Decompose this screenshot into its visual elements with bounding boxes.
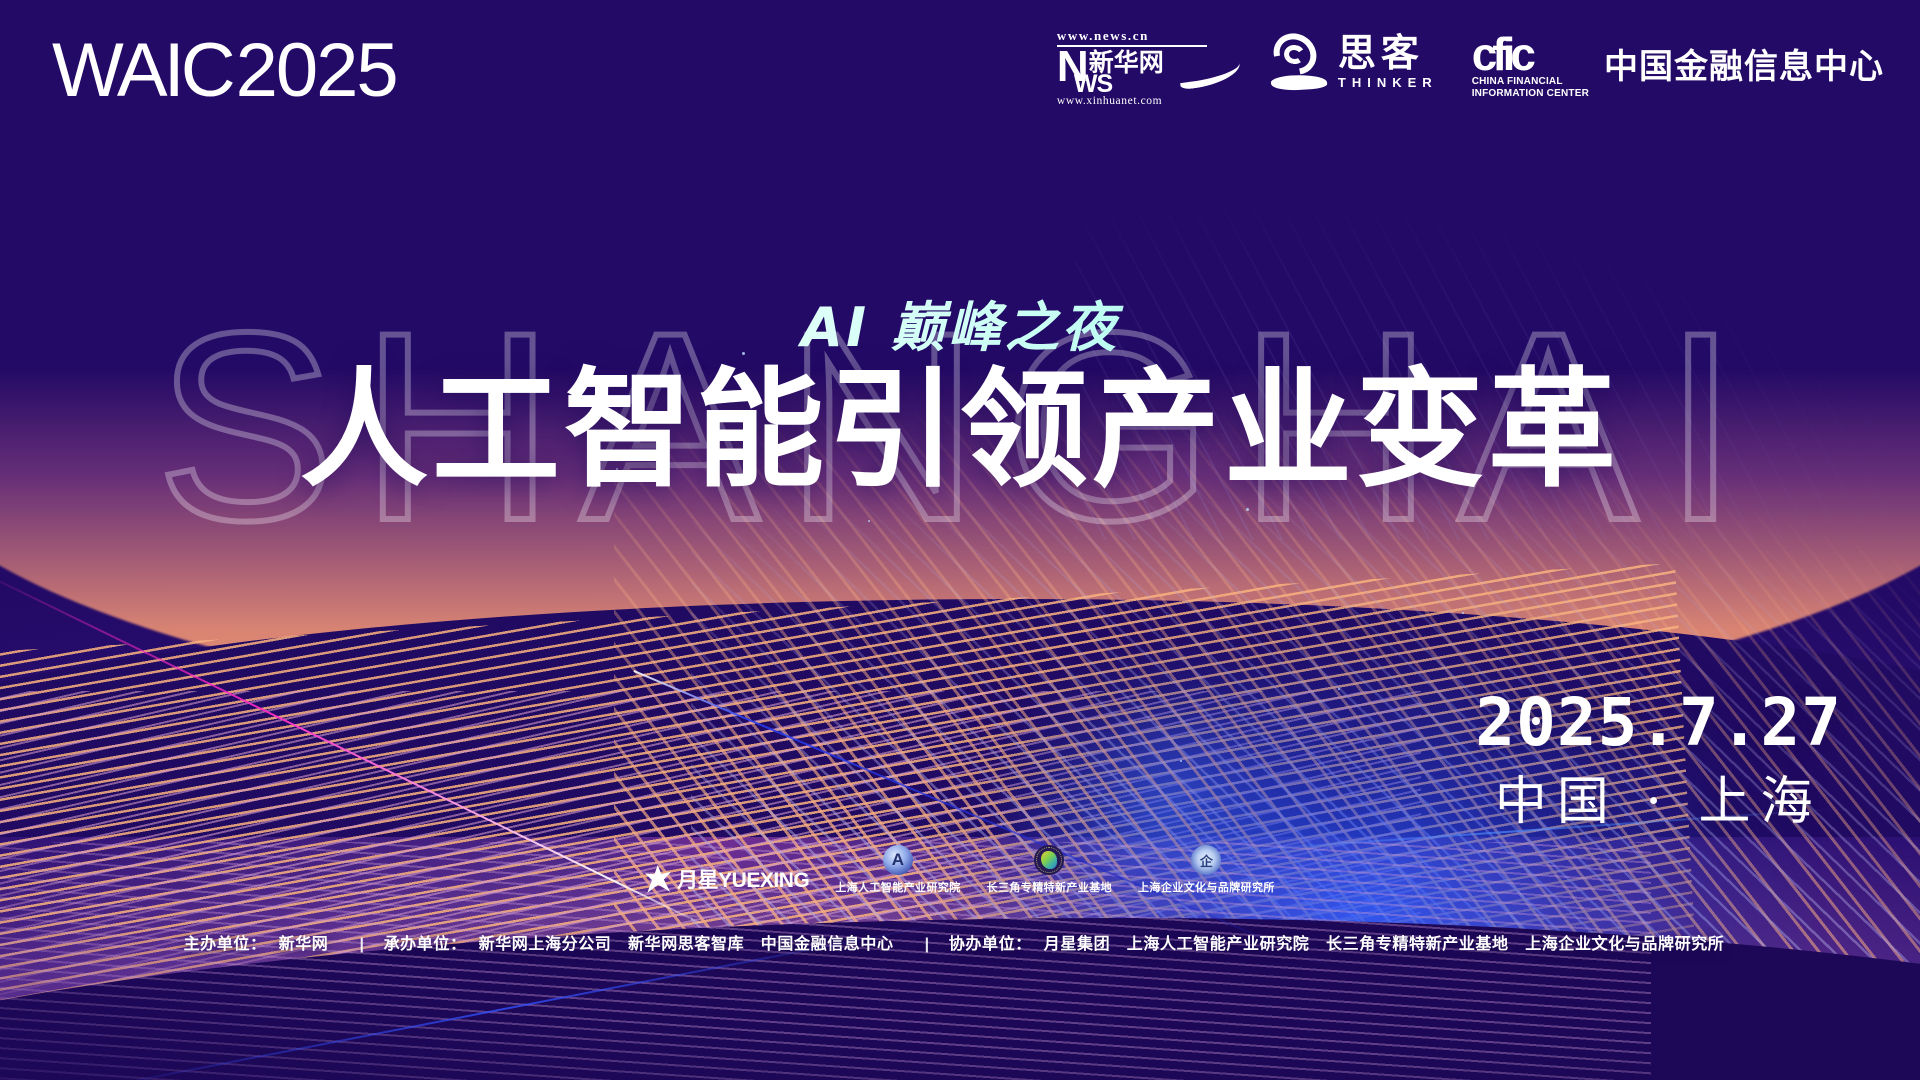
waic-banner-poster: SHANGHAI WAIC2025 www.news.cn N 新华网 WS w… (0, 0, 1920, 1080)
waic-logo-main: WAIC (52, 28, 232, 113)
partner-saii: 上海人工智能产业研究院 (835, 845, 960, 895)
organizer-credits: 主办单位：新华网 | 承办单位：新华网上海分公司 新华网思客智库 中国金融信息中… (0, 930, 1920, 954)
sparkle-dot (1462, 612, 1464, 614)
thinker-name-cn: 思客 (1338, 34, 1438, 72)
event-city: 中国 · 上海 (1475, 776, 1842, 828)
coorganizer-label: 协办单位： (949, 936, 1032, 953)
organizer-label: 承办单位： (384, 936, 467, 953)
thinker-name-en: THINKER (1338, 75, 1438, 90)
yuexing-lockup: 月星YUEXING (645, 864, 809, 894)
sparkle-dot (1180, 760, 1182, 762)
star-logo-icon (645, 865, 671, 893)
host-value: 新华网 (279, 936, 329, 953)
xinhua-url-bottom: www.xinhuanet.com (1057, 95, 1237, 107)
partner-yrd-base: 长三角专精特新产业基地 (987, 845, 1112, 895)
partner-logo-strip: 月星YUEXING 上海人工智能产业研究院 长三角专精特新产业基地 上海企业文化… (0, 845, 1920, 895)
organizer-values: 新华网上海分公司 新华网思客智库 中国金融信息中心 (479, 936, 894, 953)
coorganizer-values: 月星集团 上海人工智能产业研究院 长三角专精特新产业基地 上海企业文化与品牌研究… (1044, 936, 1725, 953)
partner-name: 上海人工智能产业研究院 (835, 879, 960, 895)
saii-badge-icon (883, 845, 913, 875)
cfic-monogram: cfic CHINA FINANCIAL INFORMATION CENTER (1472, 34, 1589, 99)
host-label: 主办单位： (184, 936, 267, 953)
event-date-location: 2025.7.27 中国 · 上海 (1475, 690, 1842, 828)
credit-separator: | (925, 936, 930, 953)
partner-name: 长三角专精特新产业基地 (987, 879, 1112, 895)
event-date: 2025.7.27 (1475, 690, 1842, 756)
sparkle-dot (1338, 688, 1340, 690)
cfic-sub-en-line2: INFORMATION CENTER (1472, 88, 1589, 100)
cfic-letters: cfic (1472, 34, 1589, 74)
xinhua-logo: www.news.cn N 新华网 WS www.xinhuanet.com (1057, 28, 1237, 107)
partner-secb: 上海企业文化与品牌研究所 (1138, 845, 1275, 895)
partner-name: 上海企业文化与品牌研究所 (1138, 879, 1275, 895)
yrd-badge-icon (1034, 845, 1064, 875)
page-title: 人工智能引领产业变革 (0, 362, 1920, 500)
thinker-wordmark: 思客 THINKER (1338, 34, 1438, 90)
thinker-spiral-icon (1271, 34, 1329, 90)
secb-badge-icon (1191, 845, 1221, 875)
yuexing-wordmark: 月星YUEXING (677, 864, 809, 894)
sponsor-logo-row: www.news.cn N 新华网 WS www.xinhuanet.com 思… (1057, 28, 1884, 107)
waic-logo-year: 2025 (236, 28, 397, 113)
cfic-name-cn: 中国金融信息中心 (1604, 50, 1884, 84)
waic-logo: WAIC2025 (52, 33, 397, 109)
thinker-logo: 思客 THINKER (1271, 34, 1438, 90)
event-kicker-title: AI 巅峰之夜 (0, 283, 1920, 362)
partner-yuexing: 月星YUEXING (645, 864, 809, 895)
cfic-logo: cfic CHINA FINANCIAL INFORMATION CENTER … (1472, 34, 1884, 99)
credit-separator: | (359, 936, 364, 953)
cfic-sub-en: CHINA FINANCIAL INFORMATION CENTER (1472, 76, 1589, 99)
cfic-sub-en-line1: CHINA FINANCIAL (1472, 76, 1589, 88)
